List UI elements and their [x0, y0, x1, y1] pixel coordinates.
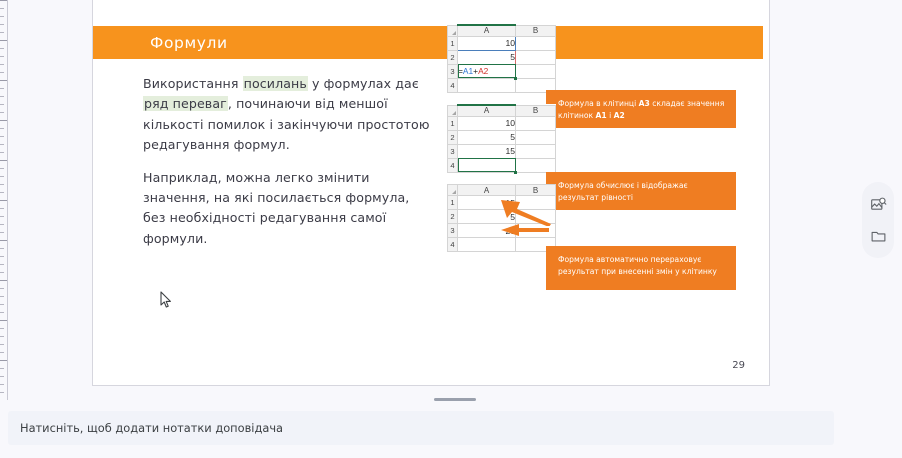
- ruler-tick: [0, 128, 4, 129]
- ruler-tick: [0, 48, 4, 49]
- sheet3-cell-a4[interactable]: [458, 238, 516, 252]
- ruler-tick: [0, 56, 4, 57]
- ruler-tick: [0, 264, 4, 265]
- ruler-tick: [0, 176, 4, 177]
- sheet2-cell-b4[interactable]: [516, 158, 556, 172]
- sheet3-col-header-b[interactable]: B: [516, 185, 556, 196]
- ruler-tick: [0, 312, 4, 313]
- table-row: 2 5: [448, 130, 556, 144]
- ruler-tick: [0, 288, 4, 289]
- ruler-tick: [0, 144, 4, 145]
- slide-title-bar[interactable]: Формули: [93, 26, 763, 59]
- formula-ref-a2: A2: [478, 66, 488, 76]
- sheet1-row-header-2[interactable]: 2: [448, 50, 458, 64]
- sheet2-row-header-4[interactable]: 4: [448, 158, 458, 172]
- ruler-tick: [0, 112, 4, 113]
- formula-ref-a1: A1: [463, 66, 473, 76]
- sheet1-col-header-a[interactable]: A: [458, 25, 516, 36]
- paragraph-1-segment-3: у формулах дає: [308, 76, 419, 91]
- ruler-tick: [0, 248, 4, 249]
- ruler-tick: [0, 280, 7, 281]
- ruler-tick: [0, 184, 4, 185]
- table-row: 1 10: [448, 36, 556, 50]
- vertical-ruler: [0, 0, 8, 400]
- arrow-to-callout-3: [499, 222, 549, 238]
- ruler-tick: [0, 0, 7, 1]
- callout-formula-sums-part-1: Формула в клітинці: [558, 99, 639, 108]
- ruler-tick: [0, 192, 4, 193]
- callout-formula-sums-part-5: і: [607, 111, 614, 120]
- ruler-tick: [0, 80, 7, 81]
- mouse-cursor: [160, 291, 172, 309]
- ruler-tick: [0, 136, 4, 137]
- ruler-tick: [0, 88, 4, 89]
- ruler-tick: [0, 216, 4, 217]
- sheet1-row-header-4[interactable]: 4: [448, 78, 458, 92]
- sheet-formula-result[interactable]: A B 1 10 2 5 3 15: [447, 104, 556, 173]
- ruler-tick: [0, 200, 7, 201]
- sheet3-row-header-3[interactable]: 3: [448, 224, 458, 238]
- paragraph-1-segment-2: посилань: [243, 76, 308, 91]
- ruler-tick: [0, 304, 4, 305]
- ruler-tick: [0, 368, 4, 369]
- ruler-tick: [0, 104, 4, 105]
- table-row: 2 5: [448, 50, 556, 64]
- folder-icon[interactable]: [869, 227, 887, 245]
- sheet2-cell-b1[interactable]: [516, 116, 556, 130]
- sheet1-cell-b2[interactable]: [516, 50, 556, 64]
- callout-formula-displays[interactable]: Формула обчислює і відображає результат …: [546, 172, 736, 210]
- sheet2-row-header-3[interactable]: 3: [448, 144, 458, 158]
- ruler-tick: [0, 392, 4, 393]
- callout-formula-sums-part-2: A3: [639, 99, 650, 108]
- side-tool-pill: [862, 182, 894, 258]
- sheet2-cell-b2[interactable]: [516, 130, 556, 144]
- ruler-tick: [0, 64, 4, 65]
- ruler-tick: [0, 72, 4, 73]
- ruler-tick: [0, 160, 7, 161]
- ruler-tick: [0, 384, 4, 385]
- sheet2-cell-b3[interactable]: [516, 144, 556, 158]
- ruler-tick: [0, 8, 4, 9]
- ruler-tick: [0, 232, 4, 233]
- sheet-formula-entry[interactable]: A B 1 10 2 5 3 =A1+A2: [447, 24, 556, 93]
- ruler-tick: [0, 240, 7, 241]
- callout-formula-sums-part-4: A1: [596, 111, 607, 120]
- ruler-tick: [0, 152, 4, 153]
- sheet1-cell-a2[interactable]: 5: [458, 50, 516, 64]
- ruler-tick: [0, 120, 7, 121]
- notes-divider-handle[interactable]: [434, 398, 476, 401]
- sheet1-cell-a1[interactable]: 10: [458, 36, 516, 50]
- sheet1-cell-b3[interactable]: [516, 64, 556, 78]
- callout-formula-sums[interactable]: Формула в клітинці A3 складає значення к…: [546, 90, 736, 128]
- ruler-tick: [0, 320, 7, 321]
- callout-formula-recalculates-part-1: Формула автоматично перераховує результа…: [558, 255, 717, 276]
- ruler-tick: [0, 328, 4, 329]
- sheet3-row-header-1[interactable]: 1: [448, 196, 458, 210]
- callout-formula-recalculates[interactable]: Формула автоматично перераховує результа…: [546, 246, 736, 290]
- ruler-tick: [0, 224, 4, 225]
- sheet2-row-header-1[interactable]: 1: [448, 116, 458, 130]
- sheet1-corner: [448, 25, 458, 36]
- ruler-tick: [0, 360, 7, 361]
- speaker-notes-placeholder: Натисніть, щоб додати нотатки доповідача: [20, 421, 283, 435]
- sheet1-row-header-1[interactable]: 1: [448, 36, 458, 50]
- table-row: 4: [448, 78, 556, 92]
- sheet2-cell-a3[interactable]: 15: [458, 144, 516, 158]
- sheet2-cell-a4-selected[interactable]: [458, 158, 516, 172]
- paragraph-1: Використання посилань у формулах дає ряд…: [143, 74, 433, 156]
- sheet3-col-header-a[interactable]: A: [458, 185, 516, 196]
- sheet3-corner: [448, 185, 458, 196]
- ruler-tick: [0, 40, 7, 41]
- table-row: 4: [448, 238, 556, 252]
- table-row: 4: [448, 158, 556, 172]
- ruler-tick: [0, 24, 4, 25]
- sheet1-cell-a4[interactable]: [458, 78, 516, 92]
- sheet2-col-header-b[interactable]: B: [516, 105, 556, 116]
- paragraph-1-segment-4: ряд переваг: [143, 96, 228, 111]
- ruler-tick: [0, 376, 4, 377]
- ruler-tick: [0, 352, 4, 353]
- sheet2-cell-a2[interactable]: 5: [458, 130, 516, 144]
- slide-page-number: 29: [732, 360, 745, 371]
- ruler-tick: [0, 208, 4, 209]
- callout-formula-displays-part-1: Формула обчислює і відображає результат …: [558, 181, 688, 202]
- sheet1-cell-b1[interactable]: [516, 36, 556, 50]
- explore-image-icon[interactable]: [869, 195, 887, 213]
- ruler-tick: [0, 344, 4, 345]
- slide[interactable]: Формули Використання посилань у формулах…: [92, 0, 770, 386]
- ruler-tick: [0, 336, 4, 337]
- slide-title: Формули: [150, 34, 228, 52]
- ruler-tick: [0, 96, 4, 97]
- table-row: 1 10: [448, 116, 556, 130]
- paragraph-2: Наприклад, можна легко змінити значення,…: [143, 168, 433, 250]
- sheet3-row-header-2[interactable]: 2: [448, 210, 458, 224]
- ruler-tick: [0, 168, 4, 169]
- table-row: 3 =A1+A2: [448, 64, 556, 78]
- ruler-tick: [0, 296, 4, 297]
- slide-canvas-area: Формули Використання посилань у формулах…: [8, 0, 902, 400]
- slide-body-text[interactable]: Використання посилань у формулах дає ряд…: [143, 74, 433, 261]
- ruler-tick: [0, 16, 4, 17]
- ruler-tick: [0, 272, 4, 273]
- paragraph-2-segment-1: Наприклад, можна легко змінити значення,…: [143, 170, 409, 246]
- sheet1-col-header-b[interactable]: B: [516, 25, 556, 36]
- sheet3-row-header-4[interactable]: 4: [448, 238, 458, 252]
- sheet2-row-header-2[interactable]: 2: [448, 130, 458, 144]
- callout-formula-sums-part-6: A2: [614, 111, 625, 120]
- sheet2-corner: [448, 105, 458, 116]
- sheet2-col-header-a[interactable]: A: [458, 105, 516, 116]
- speaker-notes-bar[interactable]: Натисніть, щоб додати нотатки доповідача: [8, 411, 834, 445]
- ruler-tick: [0, 256, 4, 257]
- sheet1-row-header-3[interactable]: 3: [448, 64, 458, 78]
- ruler-tick: [0, 32, 4, 33]
- table-row: 3 15: [448, 144, 556, 158]
- sheet1-cell-a3-formula[interactable]: =A1+A2: [458, 64, 516, 78]
- paragraph-1-segment-1: Використання: [143, 76, 243, 91]
- sheet2-cell-a1[interactable]: 10: [458, 116, 516, 130]
- notes-divider[interactable]: [8, 392, 902, 408]
